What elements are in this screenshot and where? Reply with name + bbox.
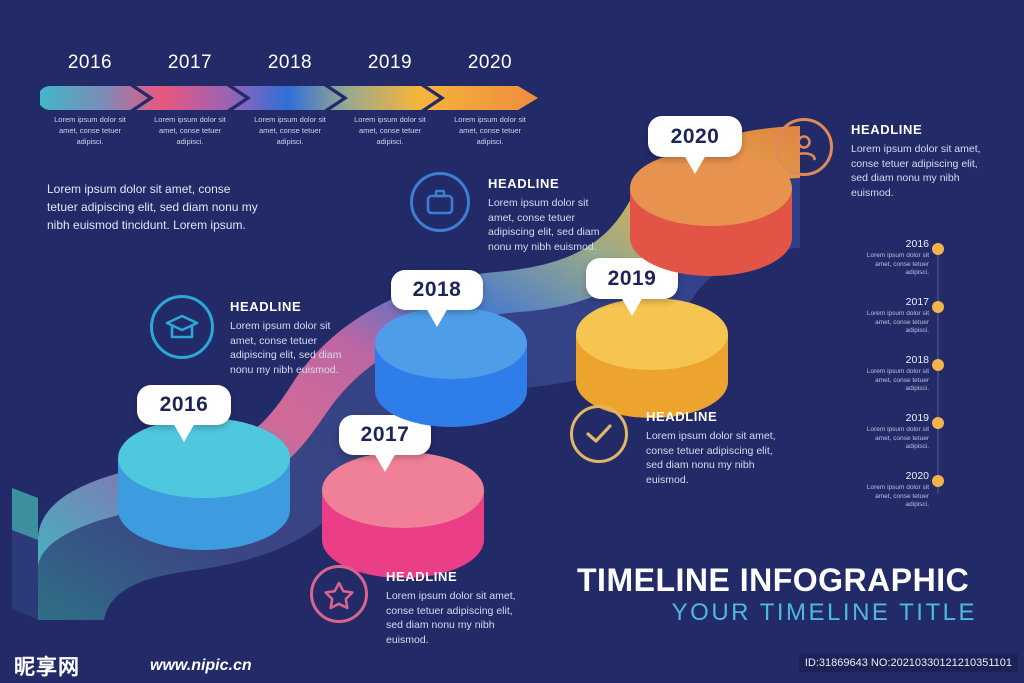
timeline-dot bbox=[932, 243, 944, 255]
top-arrow-bar bbox=[40, 86, 540, 110]
milestone-year-label: 2016 bbox=[160, 393, 209, 417]
footer-watermark-bar: 昵享网 www.nipic.cn ID:31869643 NO:20210330… bbox=[0, 645, 1024, 683]
info-headline: HEADLINE bbox=[646, 409, 776, 424]
milestone-cylinder-2020 bbox=[630, 150, 792, 280]
graduation-cap-icon bbox=[150, 295, 214, 359]
infographic-canvas: 2016 2017 2018 2019 2020 Lorem ipsum dol… bbox=[0, 0, 1024, 683]
timeline-desc: Lorem ipsum dolor sit amet, conse tetuer… bbox=[857, 310, 929, 336]
info-block-profile: HEADLINE Lorem ipsum dolor sit amet, con… bbox=[775, 118, 1000, 200]
top-strip-caption: Lorem ipsum dolor sit amet, conse tetuer… bbox=[40, 114, 140, 147]
info-headline: HEADLINE bbox=[230, 299, 358, 314]
milestone-cylinder-2016 bbox=[118, 418, 290, 553]
star-icon bbox=[310, 565, 368, 623]
top-strip-year: 2017 bbox=[140, 52, 240, 80]
milestone-year-label: 2018 bbox=[413, 278, 462, 302]
milestone-cylinder-2017 bbox=[322, 452, 484, 582]
person-icon bbox=[775, 118, 833, 176]
timeline-desc: Lorem ipsum dolor sit amet, conse tetuer… bbox=[857, 484, 929, 510]
vertical-timeline: 2016 Lorem ipsum dolor sit amet, conse t… bbox=[855, 238, 995, 500]
info-headline: HEADLINE bbox=[851, 122, 981, 137]
milestone-year-label: 2020 bbox=[671, 125, 720, 149]
timeline-desc: Lorem ipsum dolor sit amet, conse tetuer… bbox=[857, 426, 929, 452]
milestone-cylinder-2018 bbox=[375, 307, 527, 432]
nipic-logo: 昵享网 bbox=[14, 651, 80, 681]
bubble-tail bbox=[621, 297, 643, 316]
info-body: Lorem ipsum dolor sit amet, conse tetuer… bbox=[646, 429, 776, 487]
main-subtitle: YOUR TIMELINE TITLE bbox=[577, 598, 977, 628]
info-headline: HEADLINE bbox=[488, 176, 616, 191]
milestone-bubble-2018: 2018 bbox=[391, 270, 483, 310]
timeline-year: 2018 bbox=[857, 354, 929, 366]
asset-id-label: ID:31869643 NO:20210330121210351101 bbox=[799, 654, 1018, 672]
bubble-tail bbox=[173, 423, 195, 442]
intro-paragraph: Lorem ipsum dolor sit amet, conse tetuer… bbox=[47, 180, 262, 234]
info-block-education: HEADLINE Lorem ipsum dolor sit amet, con… bbox=[150, 295, 365, 377]
timeline-desc: Lorem ipsum dolor sit amet, conse tetuer… bbox=[857, 368, 929, 394]
bubble-tail bbox=[684, 155, 706, 174]
timeline-entry: 2016 Lorem ipsum dolor sit amet, conse t… bbox=[857, 238, 929, 278]
info-block-work: HEADLINE Lorem ipsum dolor sit amet, con… bbox=[410, 172, 625, 254]
timeline-dot bbox=[932, 417, 944, 429]
info-body: Lorem ipsum dolor sit amet, conse tetuer… bbox=[386, 589, 516, 647]
info-body: Lorem ipsum dolor sit amet, conse tetuer… bbox=[488, 196, 616, 254]
top-strip-caption: Lorem ipsum dolor sit amet, conse tetuer… bbox=[240, 114, 340, 147]
main-title: TIMELINE INFOGRAPHIC bbox=[577, 562, 977, 598]
top-strip-year: 2019 bbox=[340, 52, 440, 80]
top-strip-caption: Lorem ipsum dolor sit amet, conse tetuer… bbox=[140, 114, 240, 147]
intro-text: Lorem ipsum dolor sit amet, conse tetuer… bbox=[47, 180, 262, 234]
info-headline: HEADLINE bbox=[386, 569, 516, 584]
info-block-complete: HEADLINE Lorem ipsum dolor sit amet, con… bbox=[570, 405, 785, 487]
timeline-dot bbox=[932, 359, 944, 371]
main-title-block: TIMELINE INFOGRAPHIC YOUR TIMELINE TITLE bbox=[577, 562, 977, 628]
bubble-tail bbox=[374, 453, 396, 472]
bubble-tail bbox=[426, 308, 448, 327]
nipic-url[interactable]: www.nipic.cn bbox=[150, 657, 252, 675]
top-strip-year: 2020 bbox=[440, 52, 540, 80]
timeline-entry: 2020 Lorem ipsum dolor sit amet, conse t… bbox=[857, 470, 929, 510]
top-strip-year: 2018 bbox=[240, 52, 340, 80]
timeline-year: 2019 bbox=[857, 412, 929, 424]
info-block-favorite: HEADLINE Lorem ipsum dolor sit amet, con… bbox=[310, 565, 525, 647]
timeline-year: 2016 bbox=[857, 238, 929, 250]
top-strip-caption: Lorem ipsum dolor sit amet, conse tetuer… bbox=[340, 114, 440, 147]
timeline-desc: Lorem ipsum dolor sit amet, conse tetuer… bbox=[857, 252, 929, 278]
milestone-bubble-2016: 2016 bbox=[137, 385, 231, 425]
milestone-bubble-2020: 2020 bbox=[648, 116, 742, 157]
timeline-entry: 2017 Lorem ipsum dolor sit amet, conse t… bbox=[857, 296, 929, 336]
briefcase-icon bbox=[410, 172, 470, 232]
top-strip-year: 2016 bbox=[40, 52, 140, 80]
info-body: Lorem ipsum dolor sit amet, conse tetuer… bbox=[230, 319, 358, 377]
top-strip-years: 2016 2017 2018 2019 2020 bbox=[40, 52, 540, 80]
timeline-year: 2017 bbox=[857, 296, 929, 308]
check-icon bbox=[570, 405, 628, 463]
top-strip-caption: Lorem ipsum dolor sit amet, conse tetuer… bbox=[440, 114, 540, 147]
timeline-entry: 2018 Lorem ipsum dolor sit amet, conse t… bbox=[857, 354, 929, 394]
timeline-year: 2020 bbox=[857, 470, 929, 482]
top-strip-captions: Lorem ipsum dolor sit amet, conse tetuer… bbox=[40, 114, 540, 147]
info-body: Lorem ipsum dolor sit amet, conse tetuer… bbox=[851, 142, 981, 200]
timeline-dot bbox=[932, 301, 944, 313]
timeline-entry: 2019 Lorem ipsum dolor sit amet, conse t… bbox=[857, 412, 929, 452]
timeline-dot bbox=[932, 475, 944, 487]
